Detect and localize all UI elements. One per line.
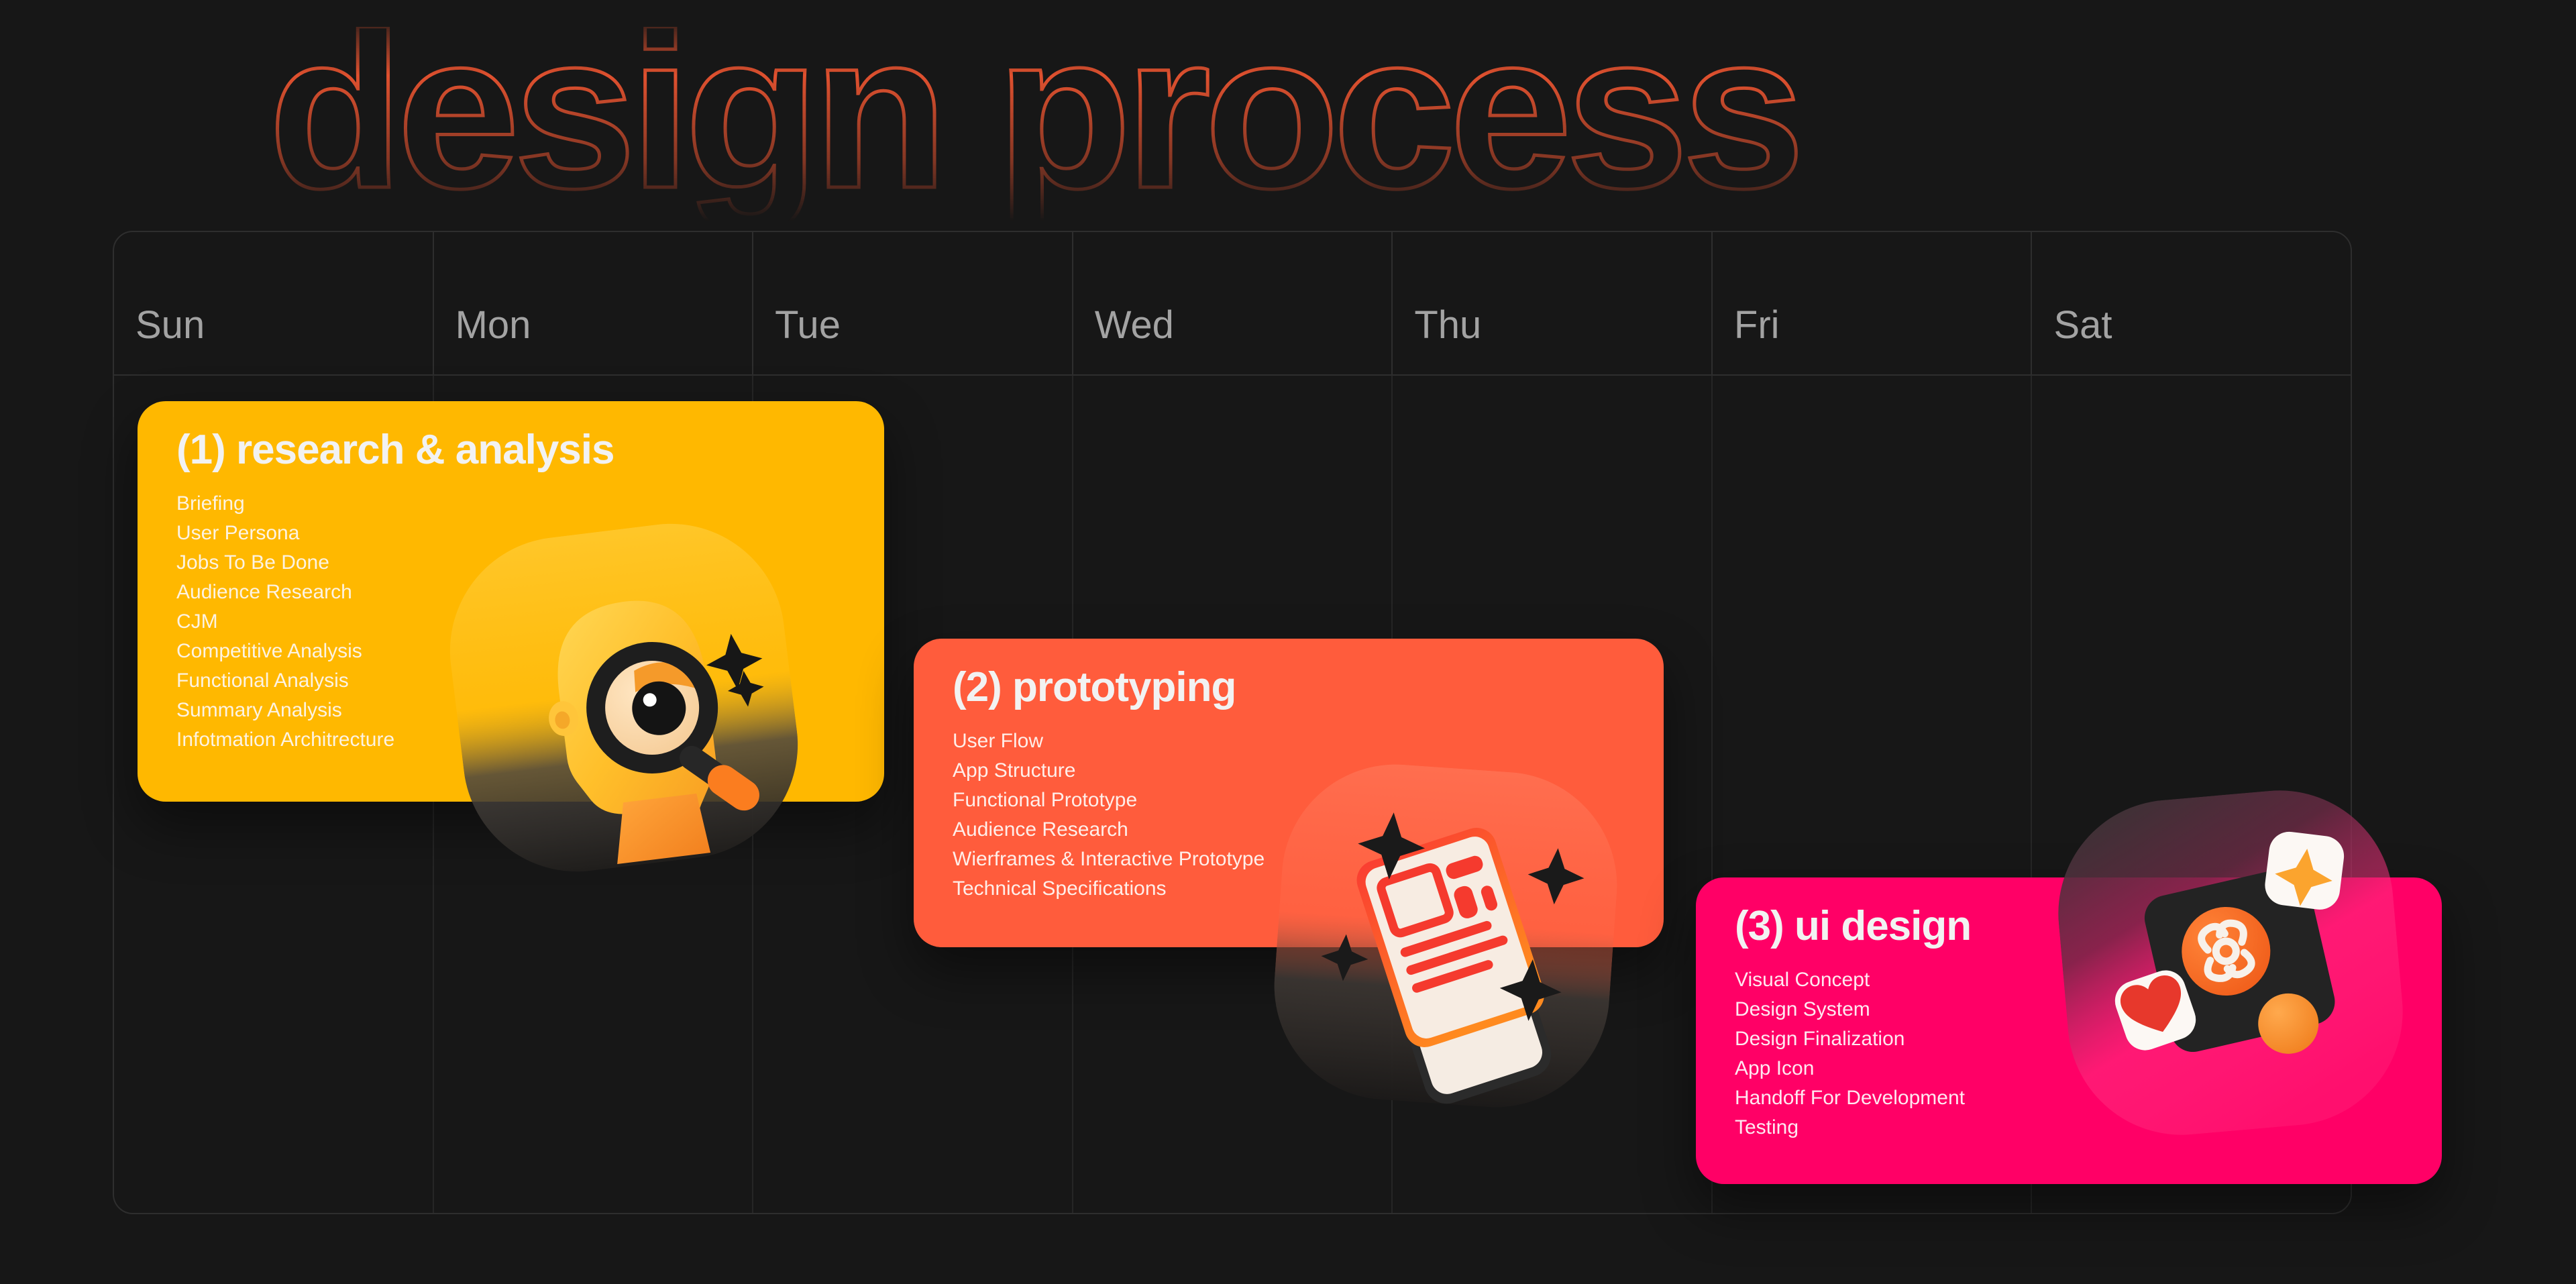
list-item: User Persona <box>176 519 884 548</box>
phase-card-prototyping[interactable]: (2) prototyping User Flow App Structure … <box>914 639 1664 947</box>
list-item: Functional Analysis <box>176 666 884 696</box>
day-column-tue[interactable]: Tue <box>753 232 1073 374</box>
list-item: Design System <box>1735 995 2442 1024</box>
canvas: design process Sun Mon Tue Wed Thu Fri <box>0 0 2576 1284</box>
list-item: Testing <box>1735 1113 2442 1142</box>
card-item-list: User Flow App Structure Functional Proto… <box>953 727 1664 904</box>
list-item: Functional Prototype <box>953 786 1664 815</box>
phase-card-research[interactable]: (1) research & analysis Briefing User Pe… <box>138 401 884 802</box>
day-label: Sat <box>2032 303 2112 374</box>
list-item: Audience Research <box>176 578 884 607</box>
card-item-list: Briefing User Persona Jobs To Be Done Au… <box>176 489 884 755</box>
list-item: Technical Specifications <box>953 874 1664 904</box>
card-title: (3) ui design <box>1735 904 2442 948</box>
day-label: Tue <box>753 303 841 374</box>
list-item: Handoff For Development <box>1735 1083 2442 1113</box>
card-title: (2) prototyping <box>953 665 1664 709</box>
list-item: Audience Research <box>953 815 1664 845</box>
day-label: Mon <box>434 303 531 374</box>
list-item: Design Finalization <box>1735 1024 2442 1054</box>
day-column-thu[interactable]: Thu <box>1393 232 1713 374</box>
list-item: Competitive Analysis <box>176 637 884 666</box>
card-title: (1) research & analysis <box>176 428 884 472</box>
list-item: Infotmation Architrecture <box>176 725 884 755</box>
day-column-sat[interactable]: Sat <box>2032 232 2351 374</box>
list-item: Visual Concept <box>1735 965 2442 995</box>
day-column-wed[interactable]: Wed <box>1073 232 1393 374</box>
list-item: CJM <box>176 607 884 637</box>
day-column-sun[interactable]: Sun <box>114 232 434 374</box>
list-item: Summary Analysis <box>176 696 884 725</box>
list-item: App Icon <box>1735 1054 2442 1083</box>
day-label: Wed <box>1073 303 1174 374</box>
day-label: Sun <box>114 303 205 374</box>
day-label: Thu <box>1393 303 1481 374</box>
page-title-wrap: design process <box>0 27 2576 248</box>
day-label: Fri <box>1713 303 1780 374</box>
calendar-header-row: Sun Mon Tue Wed Thu Fri Sat <box>114 232 2351 376</box>
page-title: design process <box>268 27 1799 221</box>
list-item: App Structure <box>953 756 1664 786</box>
list-item: Wierframes & Interactive Prototype <box>953 845 1664 874</box>
list-item: Briefing <box>176 489 884 519</box>
day-column-fri[interactable]: Fri <box>1713 232 2033 374</box>
phase-card-ui-design[interactable]: (3) ui design Visual Concept Design Syst… <box>1696 877 2442 1184</box>
list-item: Jobs To Be Done <box>176 548 884 578</box>
card-item-list: Visual Concept Design System Design Fina… <box>1735 965 2442 1142</box>
list-item: User Flow <box>953 727 1664 756</box>
day-column-mon[interactable]: Mon <box>434 232 754 374</box>
